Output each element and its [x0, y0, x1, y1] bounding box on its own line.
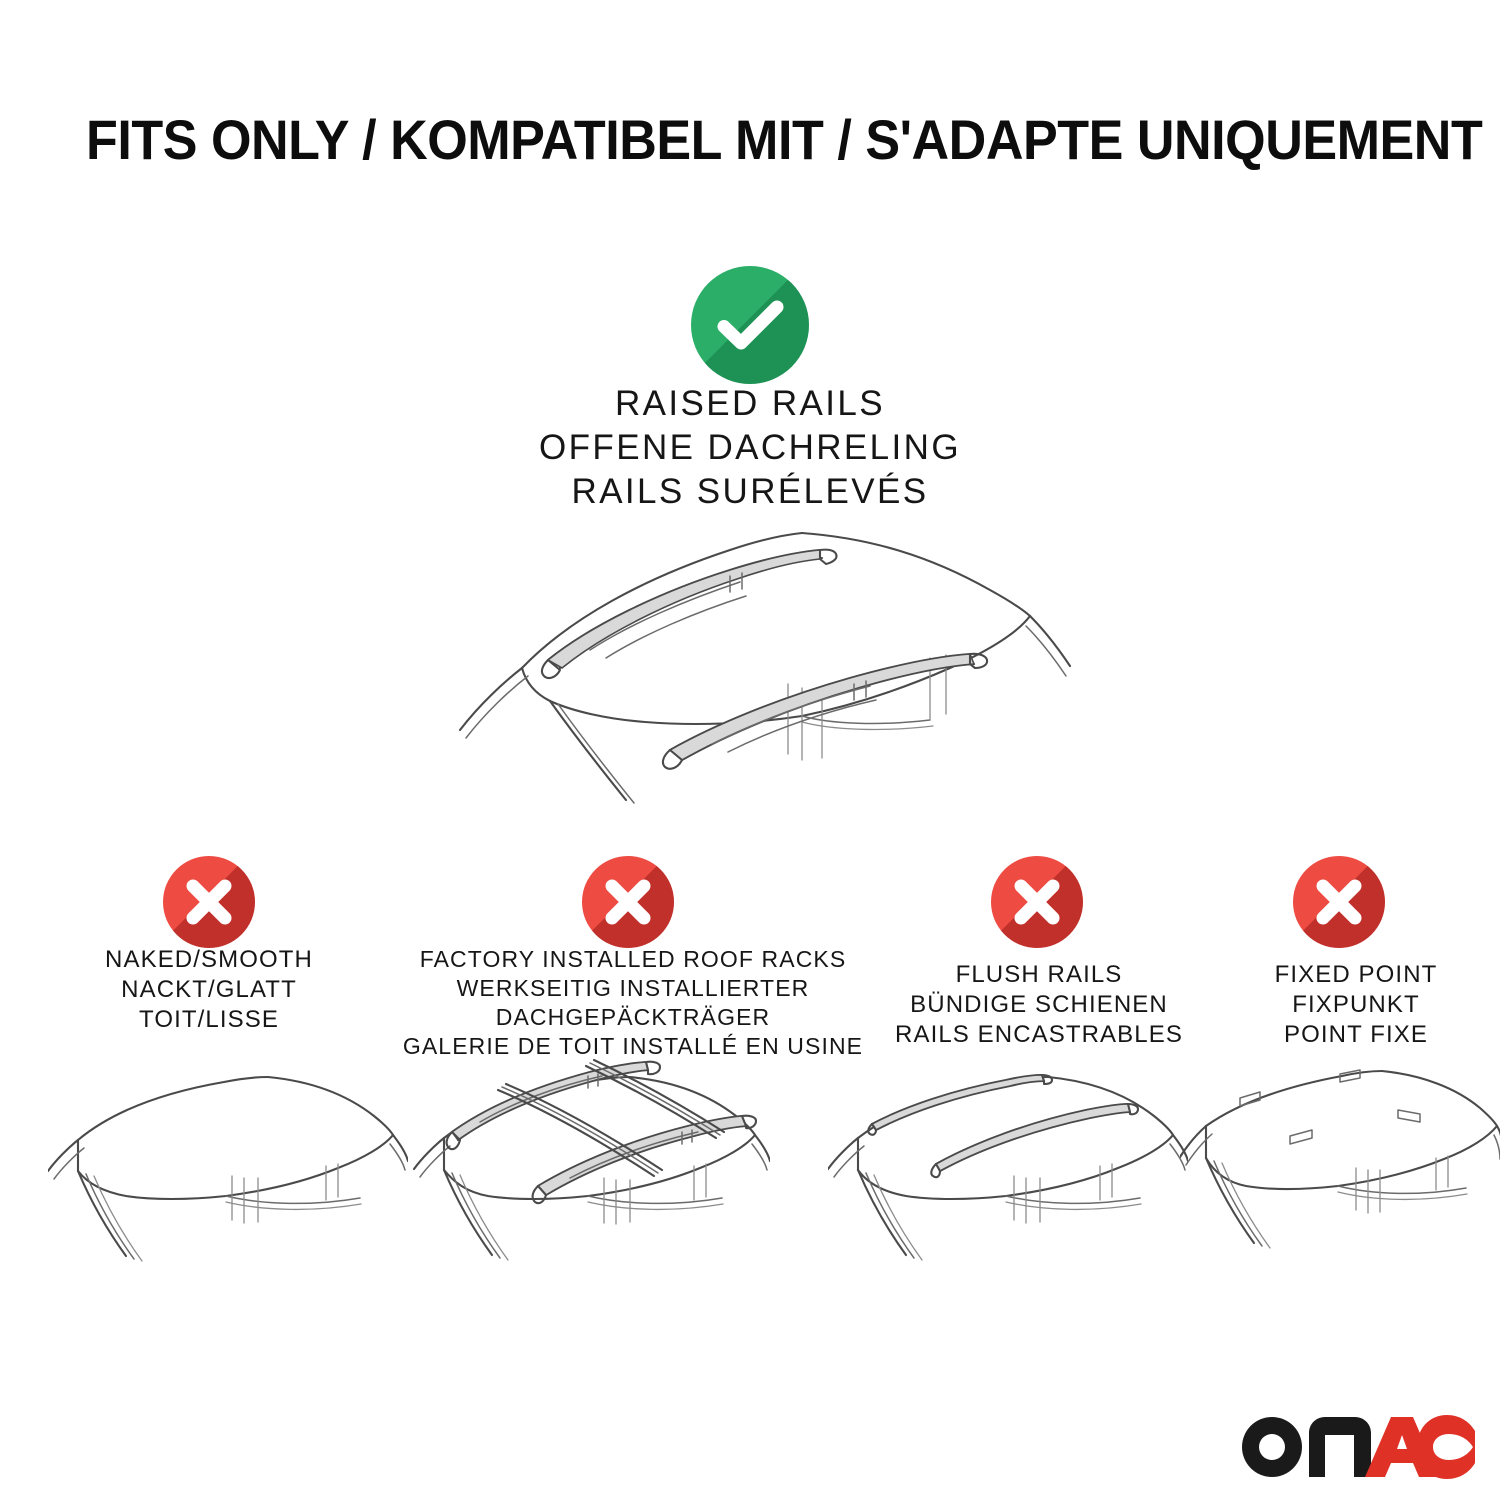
- page-title: FITS ONLY / KOMPATIBEL MIT / S'ADAPTE UN…: [86, 108, 1323, 172]
- caption-line: RAISED RAILS: [450, 382, 1050, 426]
- caption-line: GALERIE DE TOIT INSTALLÉ EN USINE: [398, 1032, 868, 1061]
- caption-line: RAILS ENCASTRABLES: [864, 1020, 1214, 1050]
- incompatible-caption-1: NAKED/SMOOTH NACKT/GLATT TOIT/LISSE: [40, 945, 378, 1035]
- caption-line: NAKED/SMOOTH: [40, 945, 378, 975]
- caption-line: WERKSEITIG INSTALLIERTER: [398, 974, 868, 1003]
- caption-line: DACHGEPÄCKTRÄGER: [398, 1003, 868, 1032]
- caption-line: TOIT/LISSE: [40, 1005, 378, 1035]
- cross-circle-icon: [1293, 856, 1385, 948]
- cross-circle-icon: [991, 856, 1083, 948]
- car-roof-fixed-point-illustration: [1180, 1058, 1500, 1293]
- caption-line: BÜNDIGE SCHIENEN: [864, 990, 1214, 1020]
- compatible-caption: RAISED RAILS OFFENE DACHRELING RAILS SUR…: [450, 382, 1050, 514]
- incompatible-caption-3: FLUSH RAILS BÜNDIGE SCHIENEN RAILS ENCAS…: [864, 960, 1214, 1050]
- cross-circle-icon: [163, 856, 255, 948]
- car-roof-naked-smooth-illustration: [48, 1058, 408, 1293]
- caption-line: FLUSH RAILS: [864, 960, 1214, 990]
- check-circle-icon: [691, 266, 809, 384]
- incompatible-caption-4: FIXED POINT FIXPUNKT POINT FIXE: [1218, 960, 1494, 1050]
- omac-logo: [1237, 1407, 1475, 1479]
- car-roof-raised-rails-illustration: [430, 508, 1080, 838]
- caption-line: OFFENE DACHRELING: [450, 426, 1050, 470]
- caption-line: FIXED POINT: [1218, 960, 1494, 990]
- caption-line: NACKT/GLATT: [40, 975, 378, 1005]
- car-roof-flush-rails-illustration: [828, 1058, 1188, 1293]
- caption-line: FACTORY INSTALLED ROOF RACKS: [398, 945, 868, 974]
- caption-line: FIXPUNKT: [1218, 990, 1494, 1020]
- caption-line: POINT FIXE: [1218, 1020, 1494, 1050]
- car-roof-factory-racks-illustration: [410, 1058, 770, 1293]
- compatibility-infographic: FITS ONLY / KOMPATIBEL MIT / S'ADAPTE UN…: [0, 0, 1500, 1500]
- incompatible-caption-2: FACTORY INSTALLED ROOF RACKS WERKSEITIG …: [398, 945, 868, 1061]
- cross-circle-icon: [582, 856, 674, 948]
